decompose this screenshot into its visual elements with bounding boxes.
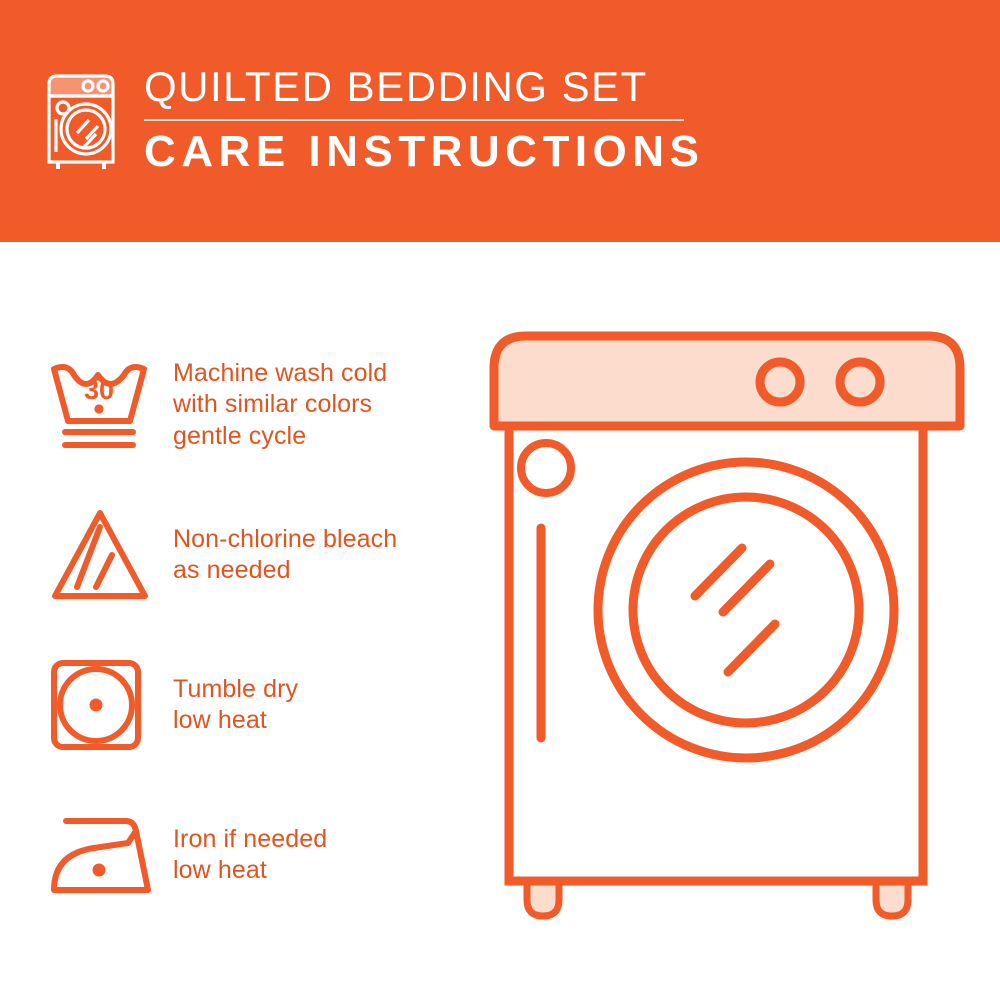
page-title: QUILTED BEDDING SET [144,66,704,108]
washer-control-panel [494,336,960,426]
care-instruction-list: 30 Machine wash cold with similar colors… [48,330,478,930]
care-icon-slot [48,507,173,603]
front-load-washing-machine-illustration [480,320,980,940]
care-text-wash: Machine wash cold with similar colors ge… [173,358,387,453]
care-line: Tumble dry [173,674,298,706]
control-knob-left[interactable] [760,362,800,402]
wash-tub-30-gentle-icon: 30 [48,355,152,455]
care-line: Machine wash cold [173,358,387,390]
care-line: low heat [173,855,327,887]
care-line: as needed [173,555,397,587]
care-row-tumble-dry: Tumble dry low heat [48,630,478,780]
header-titles: QUILTED BEDDING SET CARE INSTRUCTIONS [144,66,704,174]
care-row-bleach: Non-chlorine bleach as needed [48,480,478,630]
care-row-iron: Iron if needed low heat [48,780,478,930]
care-text-bleach: Non-chlorine bleach as needed [173,524,397,587]
header-banner: QUILTED BEDDING SET CARE INSTRUCTIONS [0,0,1000,242]
washer-body [509,426,923,881]
care-icon-slot [48,812,173,898]
non-chlorine-bleach-triangle-icon [48,507,152,603]
iron-low-heat-icon [48,812,158,898]
care-icon-slot: 30 [48,355,173,455]
page-subtitle: CARE INSTRUCTIONS [144,130,704,174]
care-line: low heat [173,705,298,737]
care-icon-slot [48,657,173,753]
washing-machine-icon [42,70,120,174]
title-divider [144,119,684,121]
tumble-dry-low-heat-icon [48,657,144,753]
low-agitation-dot [94,404,103,413]
care-line: Iron if needed [173,824,327,856]
header-content: QUILTED BEDDING SET CARE INSTRUCTIONS [42,66,704,174]
care-line: Non-chlorine bleach [173,524,397,556]
wash-temperature-label: 30 [84,375,114,405]
care-text-tumble-dry: Tumble dry low heat [173,674,298,737]
control-knob-right[interactable] [840,362,880,402]
care-line: gentle cycle [173,421,387,453]
low-heat-dot [93,864,106,877]
care-row-wash: 30 Machine wash cold with similar colors… [48,330,478,480]
care-text-iron: Iron if needed low heat [173,824,327,887]
care-line: with similar colors [173,389,387,421]
low-heat-dot [90,699,103,712]
